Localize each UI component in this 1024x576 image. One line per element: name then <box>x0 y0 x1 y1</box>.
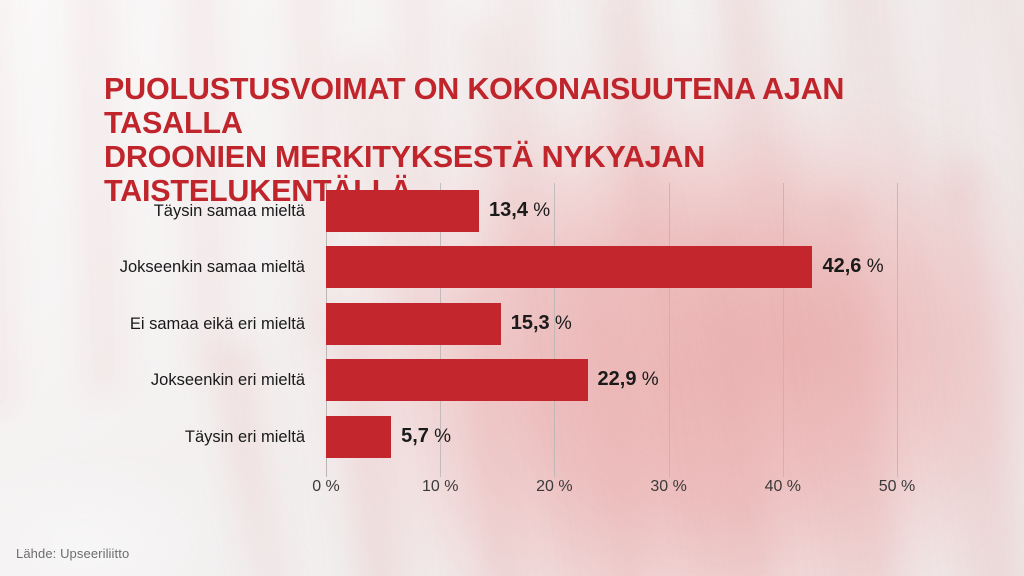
category-label: Jokseenkin samaa mieltä <box>45 258 305 277</box>
bar-value-label: 15,3 % <box>511 312 572 335</box>
percent-sign: % <box>636 369 658 390</box>
bar-chart: 13,4 %42,6 %15,3 %22,9 %5,7 % Täysin sam… <box>0 0 1024 576</box>
percent-sign: % <box>528 200 550 221</box>
bar[interactable] <box>326 190 479 232</box>
infographic-chart-slide: PUOLUSTUSVOIMAT ON KOKONAISUUTENA AJAN T… <box>0 0 1024 576</box>
bar-value-number: 13,4 <box>489 199 528 221</box>
x-tick-label-30: 30 % <box>650 478 686 496</box>
percent-sign: % <box>861 256 883 277</box>
x-tick-label-0: 0 % <box>312 478 340 496</box>
category-label: Täysin eri mieltä <box>45 428 305 447</box>
bar[interactable] <box>326 246 812 288</box>
bar[interactable] <box>326 416 391 458</box>
bar-value-number: 42,6 <box>822 255 861 277</box>
bar-value-number: 15,3 <box>511 312 550 334</box>
bar-value-label: 13,4 % <box>489 199 550 222</box>
gridline-50 <box>897 183 898 477</box>
x-tick-label-10: 10 % <box>422 478 458 496</box>
bar-row: 15,3 % <box>326 296 897 352</box>
percent-sign: % <box>550 313 572 334</box>
bar[interactable] <box>326 359 588 401</box>
category-label: Täysin samaa mieltä <box>45 202 305 221</box>
bar-value-label: 42,6 % <box>822 255 883 278</box>
bar-value-number: 22,9 <box>598 368 637 390</box>
bar-row: 42,6 % <box>326 239 897 295</box>
bar-row: 13,4 % <box>326 183 897 239</box>
x-tick-label-20: 20 % <box>536 478 572 496</box>
bar[interactable] <box>326 303 501 345</box>
x-tick-label-50: 50 % <box>879 478 915 496</box>
category-label: Ei samaa eikä eri mieltä <box>45 315 305 334</box>
bar-row: 5,7 % <box>326 409 897 465</box>
x-tick-label-40: 40 % <box>765 478 801 496</box>
bar-value-number: 5,7 <box>401 425 429 447</box>
category-label: Jokseenkin eri mieltä <box>45 371 305 390</box>
bar-value-label: 5,7 % <box>401 425 451 448</box>
bar-value-label: 22,9 % <box>598 368 659 391</box>
percent-sign: % <box>429 426 451 447</box>
source-note: Lähde: Upseeriliitto <box>16 546 129 561</box>
bar-row: 22,9 % <box>326 352 897 408</box>
